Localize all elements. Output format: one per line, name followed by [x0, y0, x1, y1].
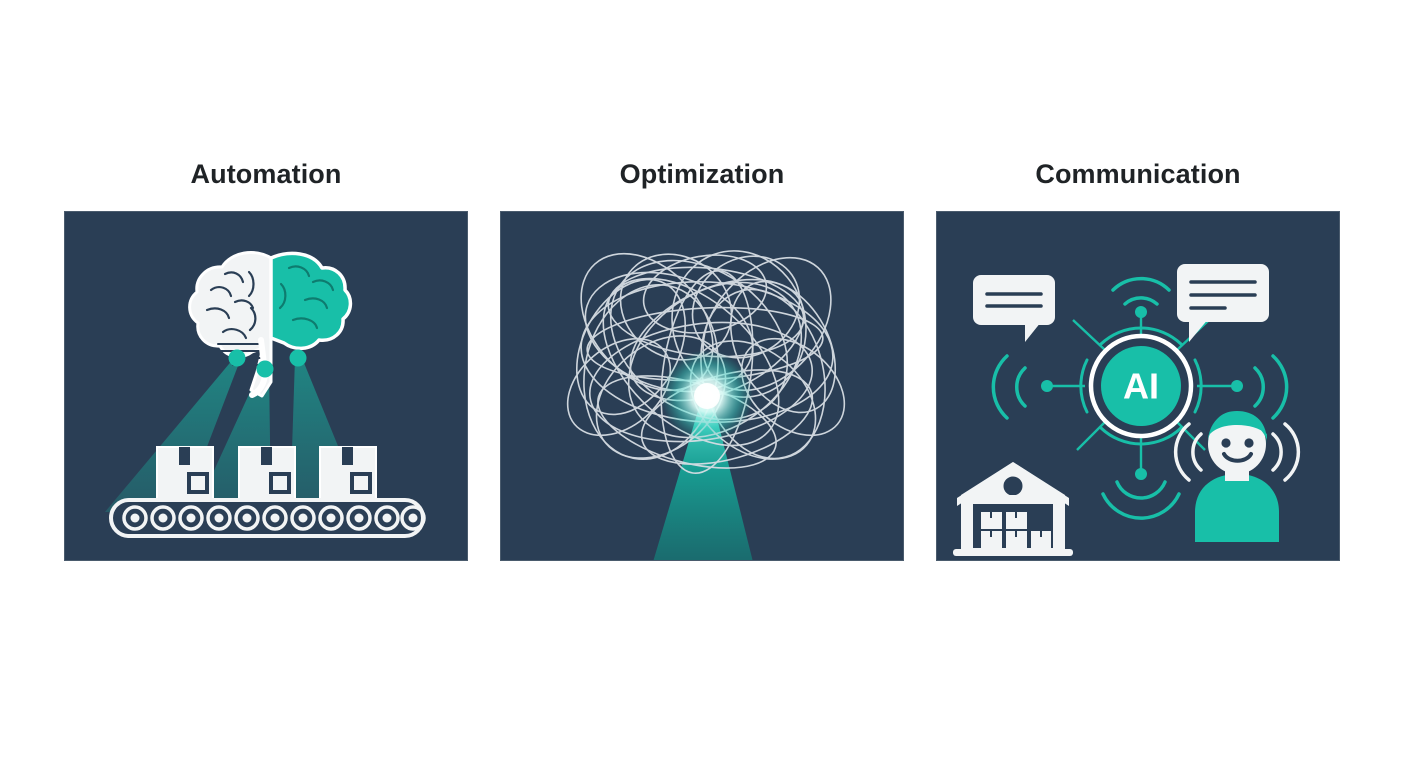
- package-boxes: [157, 447, 376, 499]
- node-dot-right: [1231, 380, 1243, 392]
- signal-arcs-top: [1113, 279, 1169, 304]
- speech-bubble-left[interactable]: [973, 275, 1055, 342]
- panel-title-automation: Automation: [64, 159, 468, 190]
- panel-automation: Automation: [64, 211, 468, 561]
- signal-arcs-left: [993, 356, 1025, 418]
- communication-illustration: AI: [936, 211, 1340, 561]
- ai-hub-label: AI: [1123, 366, 1159, 407]
- conveyor-belt: [111, 500, 424, 536]
- optimization-svg: [501, 212, 904, 561]
- optimization-illustration: [500, 211, 904, 561]
- signal-arcs-bottom: [1103, 482, 1179, 518]
- panel-communication: Communication: [936, 211, 1340, 561]
- speech-bubble-right[interactable]: [1177, 264, 1269, 342]
- signal-arcs-right: [1255, 356, 1287, 418]
- glow-point: [661, 350, 753, 442]
- node-dot-bottom: [1135, 468, 1147, 480]
- node-dot-top: [1135, 306, 1147, 318]
- communication-svg: AI: [937, 212, 1340, 561]
- illustration-page: Automation: [0, 0, 1408, 768]
- warehouse-icon: [953, 462, 1073, 556]
- automation-svg: [65, 212, 468, 561]
- automation-illustration: [64, 211, 468, 561]
- panel-title-communication: Communication: [936, 159, 1340, 190]
- ai-hub-circle[interactable]: AI: [1091, 336, 1191, 436]
- node-dot-left: [1041, 380, 1053, 392]
- person-icon: [1176, 411, 1299, 542]
- panel-optimization: Optimization: [500, 211, 904, 561]
- panel-title-optimization: Optimization: [500, 159, 904, 190]
